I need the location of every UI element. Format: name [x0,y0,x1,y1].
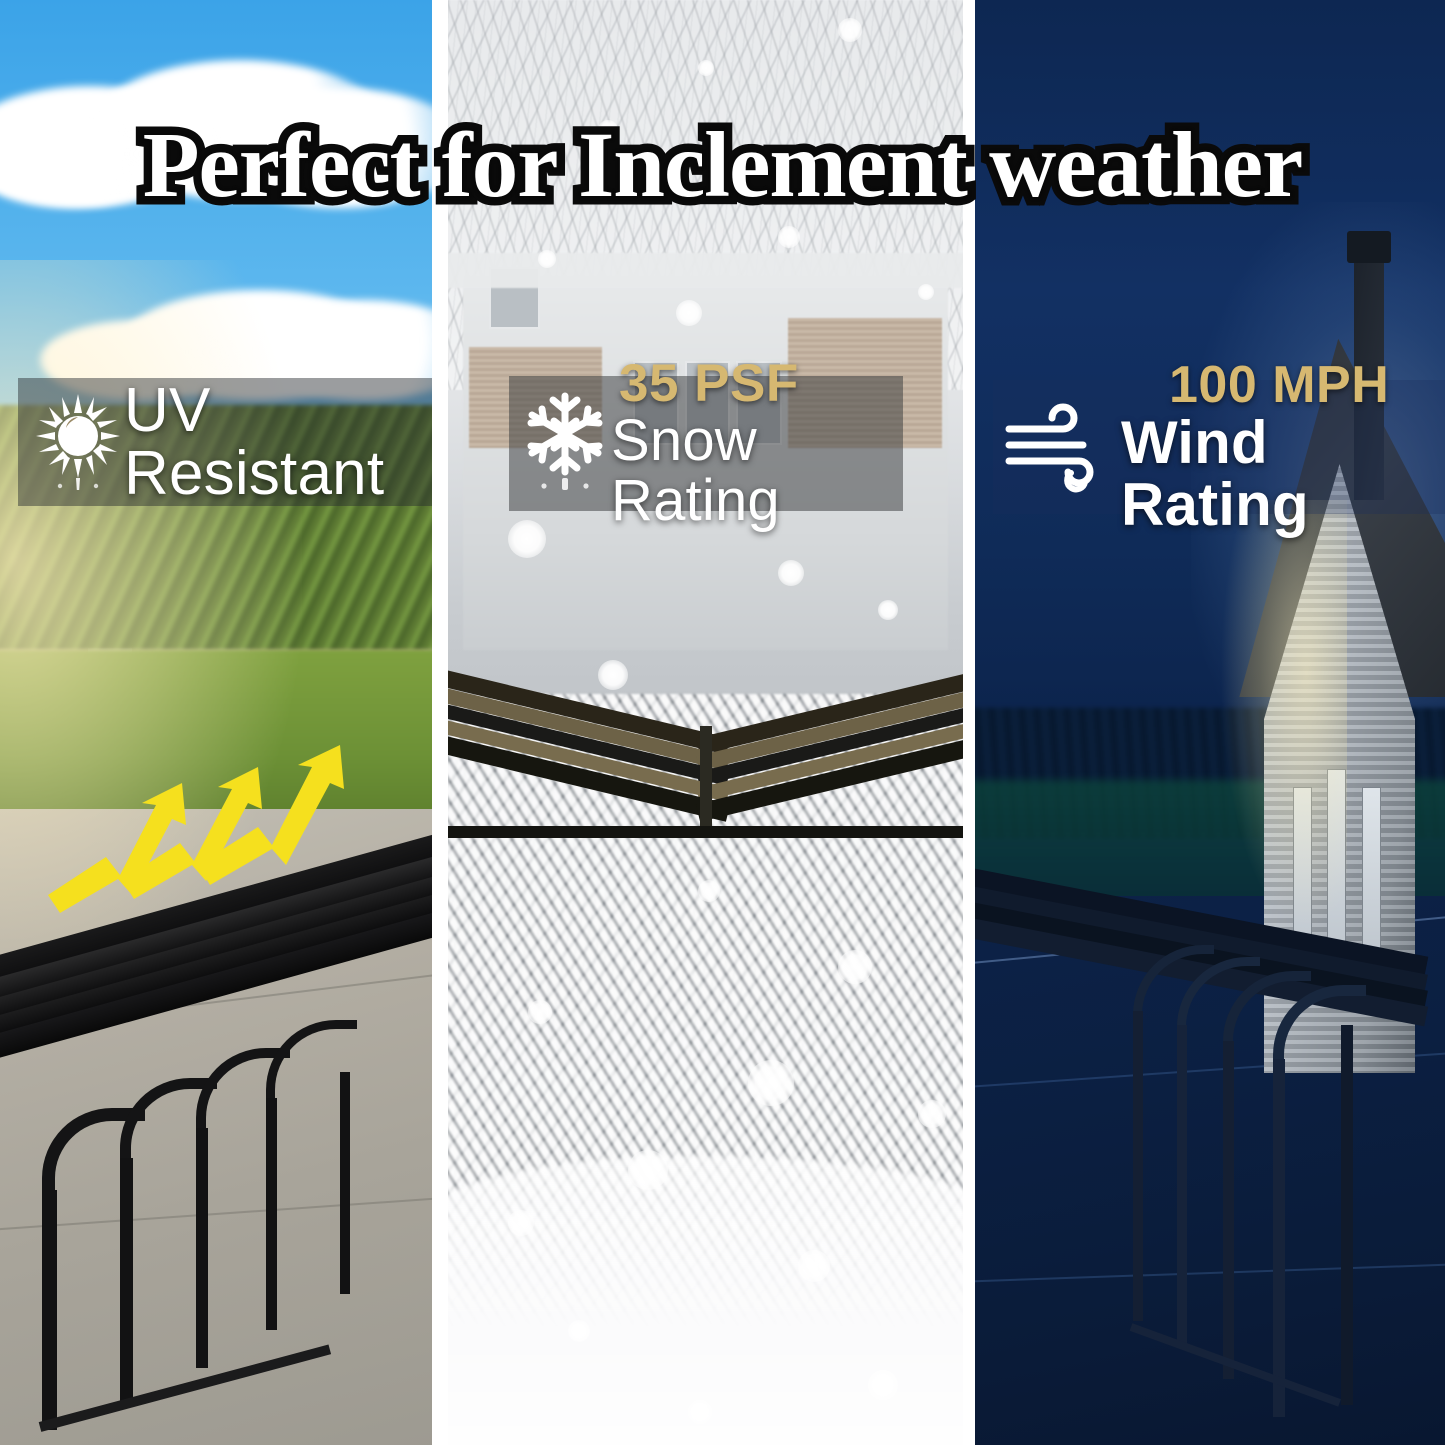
chimney-cap [1347,231,1391,262]
badge-snow-label: Snow Rating [611,411,903,529]
sun-icon [32,390,124,495]
carport-leg [42,1190,57,1430]
snowflake-bokeh [688,1400,712,1424]
snowflake-bokeh [838,950,872,984]
snowflake-bokeh [698,880,720,902]
carport-base-rail [39,1345,331,1432]
snowflake-bokeh [918,284,934,300]
snowflake-icon [517,386,613,501]
snowflake-bokeh [508,520,546,558]
snowflake-bokeh [748,1060,794,1106]
carport-cross-beam [448,826,963,838]
badge-snow-value: 35 PSF [619,357,903,411]
snowflake-bokeh [778,226,800,248]
snowflake-bokeh [698,60,714,76]
badge-snow-text: 35 PSF Snow Rating [613,357,903,529]
carport-leg [196,1128,208,1368]
uv-reflection-arrows [40,745,380,965]
badge-snow-rating: 35 PSF Snow Rating [509,376,903,511]
wind-icon [1005,391,1113,504]
badge-wind-rating: 100 MPH Wind Rating [993,380,1445,514]
carport-ridge-post [700,726,712,836]
snowflake-bokeh [778,560,804,586]
snowflake-bokeh [528,1000,552,1024]
snowflake-bokeh [538,250,556,268]
badge-uv-resistant: UV Resistant [18,378,432,506]
snowflake-bokeh [878,600,898,620]
snowflake-bokeh [676,300,702,326]
page-title: Perfect for Inclement weather [0,119,1445,212]
snowflake-bokeh [598,660,628,690]
badge-uv-label: UV Resistant [124,379,432,505]
carport-leg [1177,1025,1187,1347]
carport-leg [1133,1011,1143,1321]
badge-wind-value: 100 MPH [1169,359,1445,412]
promo-banner: Perfect for Inclement weather [0,0,1445,1445]
carport-leg [120,1158,133,1403]
carport-leg [1223,1041,1234,1379]
snowflake-bokeh [868,1370,898,1400]
badge-uv-text: UV Resistant [124,379,432,505]
carport-leg [1341,1025,1353,1405]
carport-leg [266,1098,277,1330]
badge-wind-text: 100 MPH Wind Rating [1113,359,1445,534]
snowflake-bokeh [568,1320,590,1342]
snowflake-bokeh [508,1210,534,1236]
snowflake-bokeh [628,1150,668,1190]
carport-structure [448,660,963,1000]
carport-leg [340,1072,350,1294]
carport-leg [1273,1059,1285,1417]
carport-structure [975,835,1445,1445]
carport-base-rail [1130,1323,1341,1406]
snowflake-bokeh [798,1250,830,1282]
snowflake-bokeh [918,1100,946,1128]
house-roof-overhang [448,253,963,288]
snowflake-bokeh [838,18,862,42]
badge-wind-label: Wind Rating [1121,412,1445,534]
